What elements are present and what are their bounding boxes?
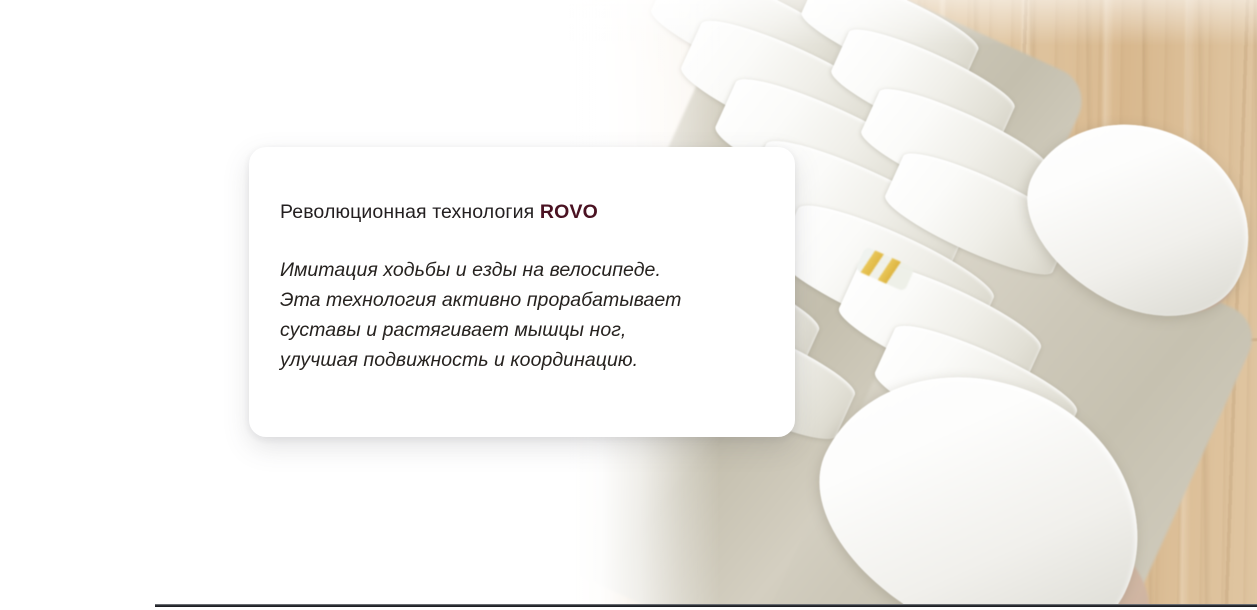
card-body: Имитация ходьбы и езды на велосипеде. Эт… xyxy=(280,255,757,375)
feature-card: Революционная технология ROVO Имитация х… xyxy=(249,147,795,437)
card-heading-prefix: Революционная технология xyxy=(280,201,540,223)
card-body-line: Имитация ходьбы и езды на велосипеде. xyxy=(280,255,757,285)
card-body-line: улучшая подвижность и координацию. xyxy=(280,345,757,375)
card-body-line: суставы и растягивает мышцы ног, xyxy=(280,315,757,345)
brand-name-rovo: ROVO xyxy=(540,201,598,223)
card-heading: Революционная технология ROVO xyxy=(280,199,757,225)
card-body-line: Эта технология активно прорабатывает xyxy=(280,285,757,315)
slide-root: Революционная технология ROVO Имитация х… xyxy=(0,0,1257,610)
